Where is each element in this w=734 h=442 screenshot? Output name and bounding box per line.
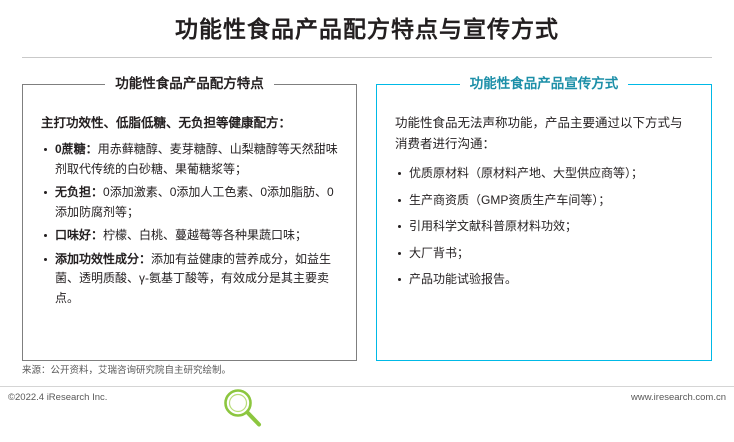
promotion-methods-list: 优质原材料（原材料产地、大型供应商等）； 生产商资质（GMP资质生产车间等）； … <box>395 164 693 290</box>
promotion-methods-lead: 功能性食品无法声称功能，产品主要通过以下方式与消费者进行沟通： <box>395 113 693 155</box>
promotion-methods-panel: 功能性食品产品宣传方式 功能性食品无法声称功能，产品主要通过以下方式与消费者进行… <box>376 84 712 361</box>
list-item-text: 生产商资质（GMP资质生产车间等）； <box>409 193 610 207</box>
page-title-wrap: 功能性食品产品配方特点与宣传方式 <box>0 14 734 44</box>
list-item-term: 无负担： <box>55 185 103 199</box>
promotion-methods-body: 功能性食品无法声称功能，产品主要通过以下方式与消费者进行沟通： 优质原材料（原材… <box>377 85 711 290</box>
title-divider <box>22 57 712 58</box>
list-item: 大厂背书； <box>395 244 693 264</box>
list-item: 口味好：柠檬、白桃、蔓越莓等各种果蔬口味； <box>41 226 338 246</box>
list-item-term: 口味好： <box>55 228 103 242</box>
page-title: 功能性食品产品配方特点与宣传方式 <box>0 14 734 44</box>
source-note: 来源：公开资料，艾瑞咨询研究院自主研究绘制。 <box>22 364 231 378</box>
formula-features-list: 0蔗糖：用赤藓糖醇、麦芽糖醇、山梨糖醇等天然甜味剂取代传统的白砂糖、果葡糖浆等；… <box>41 140 338 308</box>
list-item-text: 大厂背书； <box>409 246 469 260</box>
website-url[interactable]: www.iresearch.com.cn <box>631 392 726 403</box>
list-item: 0蔗糖：用赤藓糖醇、麦芽糖醇、山梨糖醇等天然甜味剂取代传统的白砂糖、果葡糖浆等； <box>41 140 338 179</box>
list-item-text: 引用科学文献科普原材料功效； <box>409 219 577 233</box>
formula-features-lead: 主打功效性、低脂低糖、无负担等健康配方： <box>41 113 338 133</box>
formula-features-panel: 功能性食品产品配方特点 主打功效性、低脂低糖、无负担等健康配方： 0蔗糖：用赤藓… <box>22 84 357 361</box>
list-item-text: 产品功能试验报告。 <box>409 272 517 286</box>
footer-divider <box>0 386 734 387</box>
list-item-text: 优质原材料（原材料产地、大型供应商等）； <box>409 166 643 180</box>
list-item-text: 用赤藓糖醇、麦芽糖醇、山梨糖醇等天然甜味剂取代传统的白砂糖、果葡糖浆等； <box>55 142 338 176</box>
list-item: 生产商资质（GMP资质生产车间等）； <box>395 191 693 211</box>
formula-features-body: 主打功效性、低脂低糖、无负担等健康配方： 0蔗糖：用赤藓糖醇、麦芽糖醇、山梨糖醇… <box>23 85 356 308</box>
list-item: 添加功效性成分：添加有益健康的营养成分，如益生菌、透明质酸、γ-氨基丁酸等，有效… <box>41 250 338 309</box>
list-item: 产品功能试验报告。 <box>395 270 693 290</box>
list-item: 引用科学文献科普原材料功效； <box>395 217 693 237</box>
copyright-text: ©2022.4 iResearch Inc. <box>8 392 107 403</box>
magnifier-icon <box>219 385 265 431</box>
list-item-term: 0蔗糖： <box>55 142 98 156</box>
list-item-term: 添加功效性成分： <box>55 252 151 266</box>
list-item-text: 柠檬、白桃、蔓越莓等各种果蔬口味； <box>103 228 307 242</box>
list-item: 优质原材料（原材料产地、大型供应商等）； <box>395 164 693 184</box>
list-item: 无负担：0添加激素、0添加人工色素、0添加脂肪、0添加防腐剂等； <box>41 183 338 222</box>
